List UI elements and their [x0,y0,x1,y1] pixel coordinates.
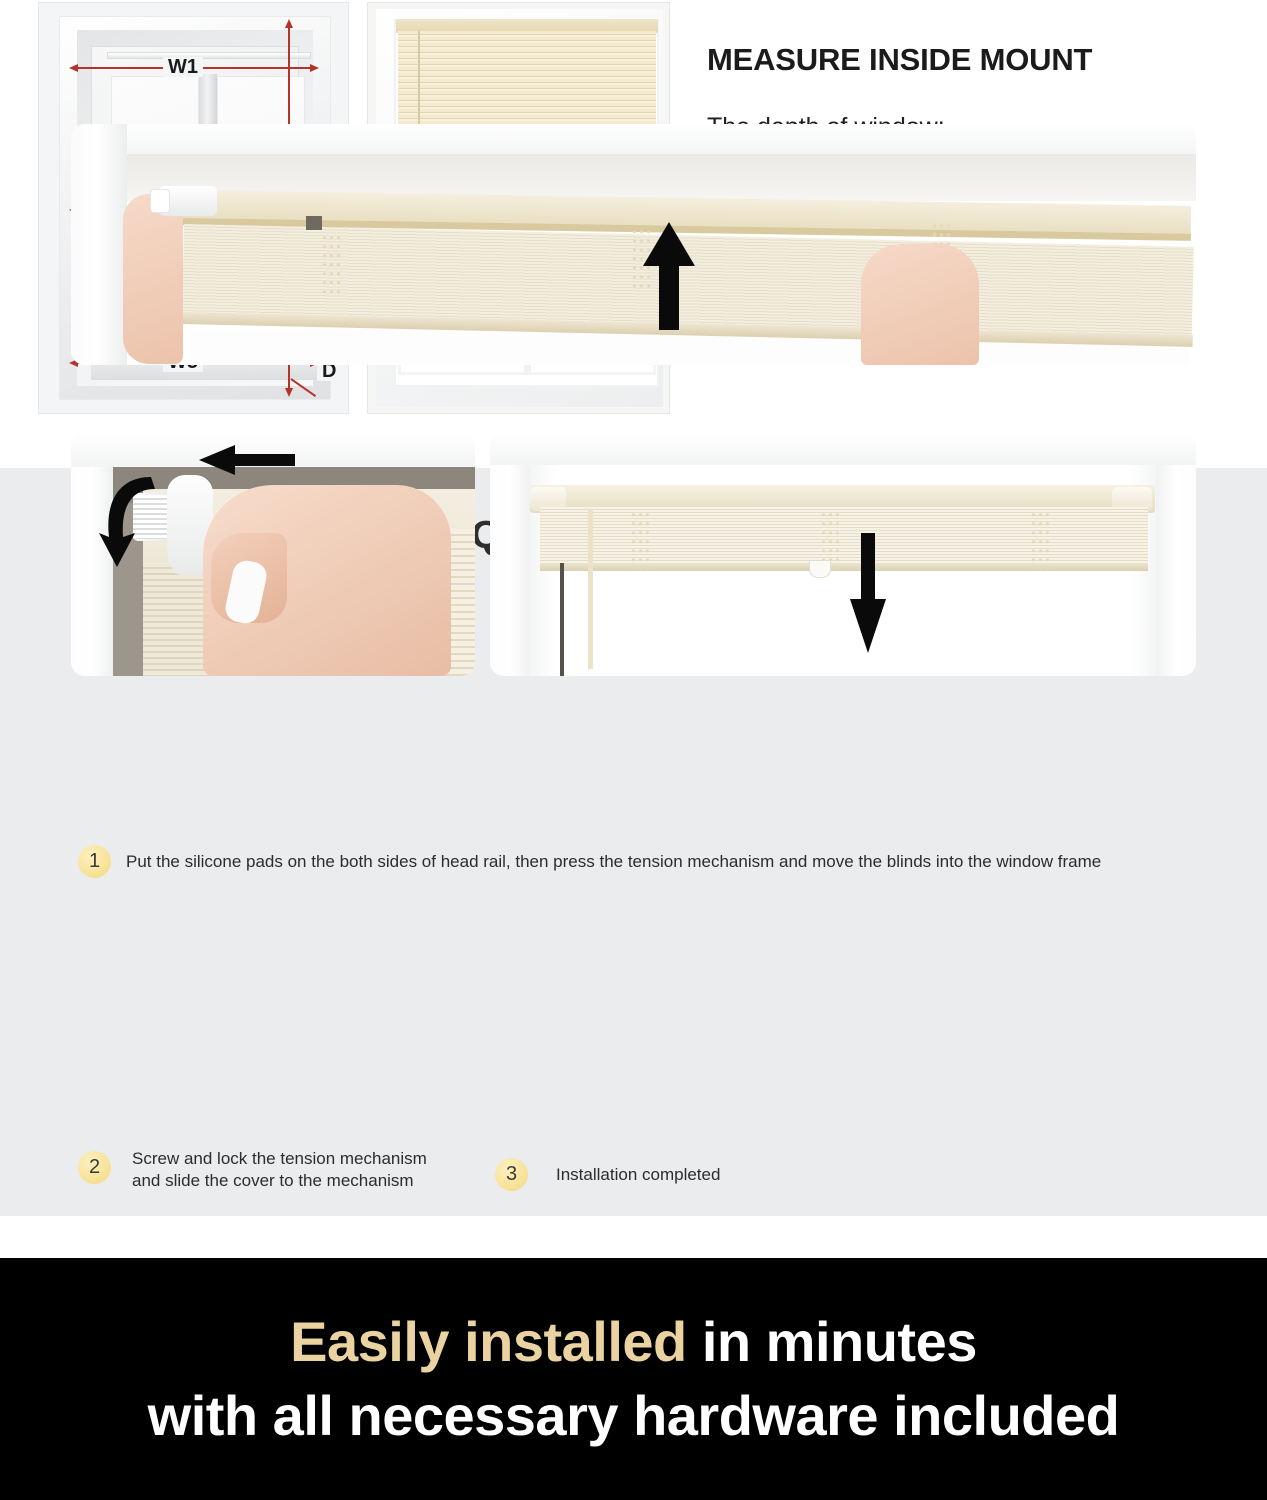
step-2-caption: 2 Screw and lock the tension mechanism a… [78,1148,427,1192]
step3-tilt-knob [810,561,830,577]
step-2-text-line-2: and slide the cover to the mechanism [132,1170,427,1192]
step-1-text: Put the silicone pads on the both sides … [126,851,1101,873]
step-1-photo [71,124,1196,365]
step-2-photo [71,433,475,676]
step-1-caption: 1 Put the silicone pads on the both side… [78,845,1101,878]
step-2-text: Screw and lock the tension mechanism and… [132,1148,427,1192]
up-arrow-icon [643,222,695,330]
rotate-down-arrow-icon [99,471,159,567]
step-3-badge: 3 [495,1158,528,1191]
step1-right-hand [861,244,979,365]
promo-banner: Easily installed in minutes with all nec… [0,1258,1267,1500]
step1-left-hand [123,194,183,364]
promo-banner-line-1: Easily installed in minutes [290,1305,977,1379]
down-arrow-icon [850,533,886,653]
promo-banner-gold-text: Easily installed [290,1310,687,1373]
step-2-badge: 2 [78,1151,111,1184]
measure-title: MEASURE INSIDE MOUNT [707,42,1247,78]
step1-tension-mechanism [151,190,169,212]
step3-ladder-cord-3 [1030,513,1052,575]
step-1-badge: 1 [78,845,111,878]
left-arrow-icon [199,445,295,475]
step1-casing-left [71,124,127,365]
step3-ladder-cord-1 [630,513,652,575]
promo-banner-white-text: in minutes [687,1310,977,1373]
step1-casing-top [111,124,1196,154]
step3-casing-right [1156,433,1196,676]
step-2-text-line-1: Screw and lock the tension mechanism [132,1148,427,1170]
step3-tilt-wand [560,563,564,676]
step1-cord-lock [306,216,322,230]
step-3-caption: 3 Installation completed [495,1158,720,1191]
banner-gap [0,1216,1267,1258]
promo-banner-line-2: with all necessary hardware included [148,1379,1120,1453]
step1-ladder-cord-1 [321,236,343,298]
step-3-photo [490,433,1196,676]
window-header-bar [107,52,311,59]
step3-window-glass [556,571,1130,676]
dimension-label-w1: W1 [163,57,203,77]
step3-lift-cord [588,509,593,669]
step-3-text: Installation completed [556,1164,720,1186]
step3-casing-left [490,433,530,676]
step3-casing-top [490,433,1196,465]
